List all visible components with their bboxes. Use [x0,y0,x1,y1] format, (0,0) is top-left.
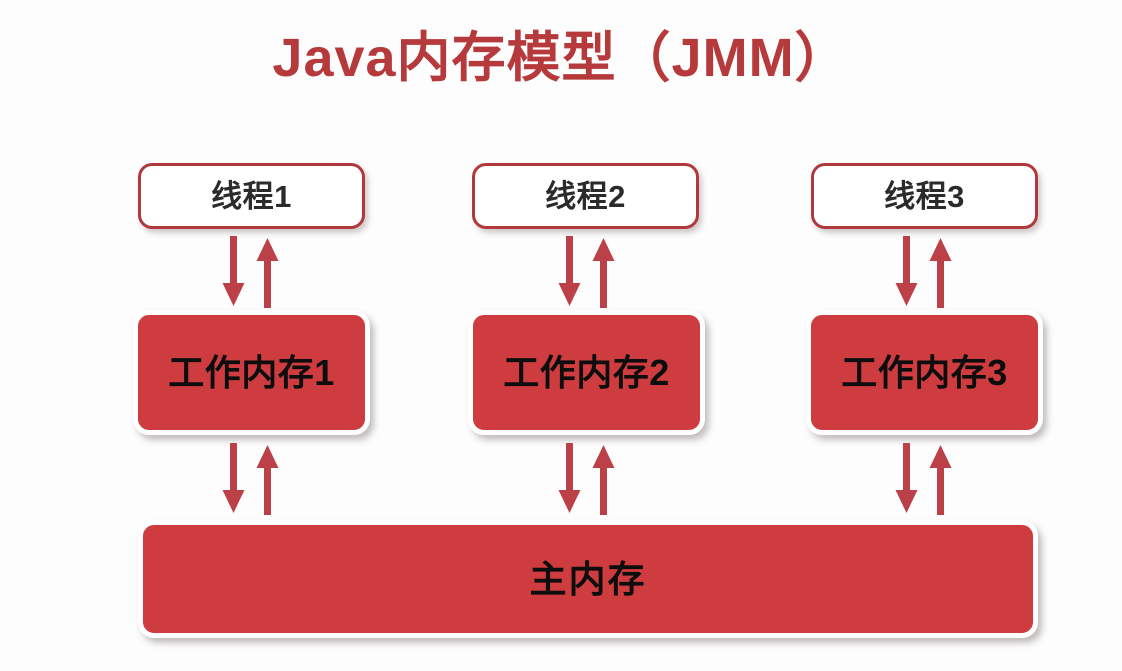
down-arrow-icon [223,236,245,306]
main-memory-label: 主内存 [530,561,647,598]
up-arrow-icon [257,445,279,515]
working-memory-box-1[interactable]: 工作内存1 [133,310,370,435]
thread-box-2[interactable]: 线程2 [472,163,699,229]
working-memory-box-3[interactable]: 工作内存3 [806,310,1043,435]
thread-box-1[interactable]: 线程1 [138,163,365,229]
down-arrow-icon [896,236,918,306]
arrow-pair-working2-main [549,443,625,515]
thread-label-3: 线程3 [884,181,965,212]
thread-box-3[interactable]: 线程3 [811,163,1038,229]
page-title: Java内存模型（JMM） [0,28,1122,88]
thread-label-2: 线程2 [545,181,626,212]
working-memory-box-2[interactable]: 工作内存2 [468,310,705,435]
main-memory-box[interactable]: 主内存 [138,520,1038,638]
up-arrow-icon [593,445,615,515]
arrow-pair-thread2-working2 [549,236,625,308]
working-memory-label-2: 工作内存2 [503,355,670,391]
down-arrow-icon [223,443,245,513]
arrow-pair-thread3-working3 [886,236,962,308]
arrow-pair-thread1-working1 [213,236,289,308]
up-arrow-icon [257,238,279,308]
up-arrow-icon [593,238,615,308]
arrow-pair-working1-main [213,443,289,515]
up-arrow-icon [930,445,952,515]
down-arrow-icon [896,443,918,513]
arrow-pair-working3-main [886,443,962,515]
down-arrow-icon [559,443,581,513]
down-arrow-icon [559,236,581,306]
thread-label-1: 线程1 [211,181,292,212]
up-arrow-icon [930,238,952,308]
jmm-diagram: Java内存模型（JMM） 线程1 工作内存1 [0,0,1122,671]
working-memory-label-1: 工作内存1 [168,355,335,391]
working-memory-label-3: 工作内存3 [841,355,1008,391]
